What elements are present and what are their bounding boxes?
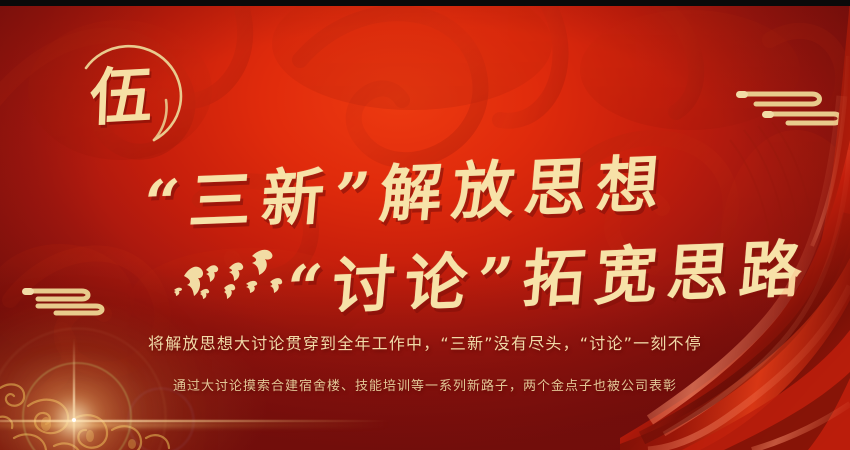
cloud-line-motif-left-icon: [16, 282, 110, 316]
chapter-number-badge: 伍: [58, 38, 184, 156]
poster-canvas: 伍 “三新”解放思想 “讨论”拓宽思路 将解放思想大讨论贯穿到全年工作中，“三新…: [0, 0, 850, 450]
chapter-number-char: 伍: [56, 35, 187, 159]
red-silk-ribbon: [620, 0, 850, 450]
flying-birds-icon: [170, 248, 290, 310]
top-black-bar: [0, 0, 850, 6]
